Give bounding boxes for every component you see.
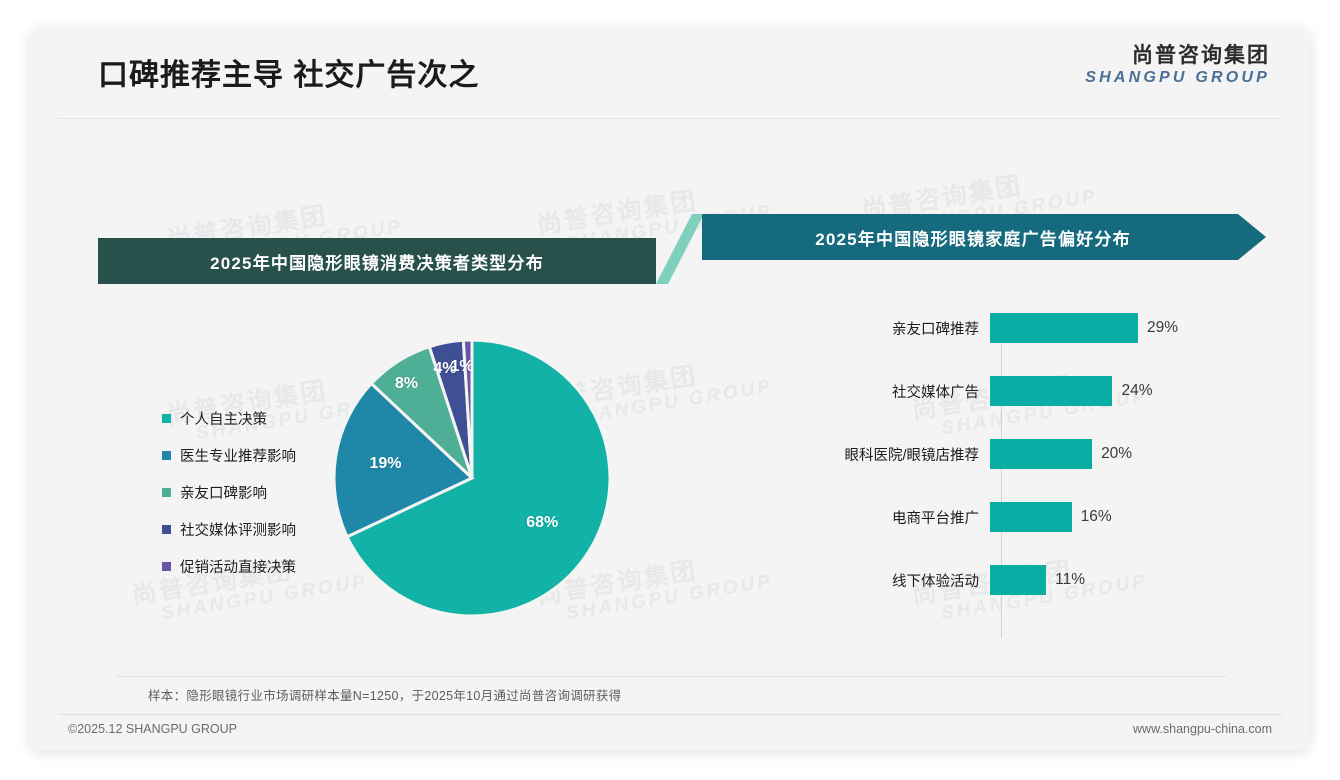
pie-slice-label: 1% <box>451 358 474 376</box>
bar-value-label: 20% <box>1101 445 1132 463</box>
bar-row[interactable]: 电商平台推广16% <box>690 500 1112 534</box>
legend-swatch-icon <box>162 414 171 423</box>
logo-text-cn: 尚普咨询集团 <box>1085 44 1270 68</box>
legend-label: 个人自主决策 <box>180 408 267 429</box>
legend-item[interactable]: 促销活动直接决策 <box>162 556 296 577</box>
legend-item[interactable]: 医生专业推荐影响 <box>162 445 296 466</box>
bar-value-label: 24% <box>1121 382 1152 400</box>
pie-svg <box>332 338 612 618</box>
bar-value-label: 11% <box>1055 571 1085 589</box>
bar-category-label: 亲友口碑推荐 <box>690 318 990 339</box>
bar-row[interactable]: 眼科医院/眼镜店推荐20% <box>690 437 1132 471</box>
bar-fill[interactable] <box>990 502 1072 532</box>
banner-connector-shape <box>656 214 704 284</box>
slide-header: 口碑推荐主导 社交广告次之 尚普咨询集团 SHANGPU GROUP <box>30 28 1310 118</box>
banner-left-pie: 2025年中国隐形眼镜消费决策者类型分布 <box>98 238 656 284</box>
note-divider <box>116 676 1226 677</box>
banner-left-label: 2025年中国隐形眼镜消费决策者类型分布 <box>210 249 544 274</box>
bar-value-label: 29% <box>1147 319 1178 337</box>
bar-fill[interactable] <box>990 565 1046 595</box>
bar-fill[interactable] <box>990 376 1112 406</box>
page-title: 口碑推荐主导 社交广告次之 <box>98 50 479 94</box>
bar-category-label: 线下体验活动 <box>690 570 990 591</box>
pie-slice-label: 8% <box>395 375 418 393</box>
legend-label: 医生专业推荐影响 <box>180 445 296 466</box>
brand-logo: 尚普咨询集团 SHANGPU GROUP <box>1085 44 1270 87</box>
footer-website[interactable]: www.shangpu-china.com <box>1133 722 1272 736</box>
bar-category-label: 电商平台推广 <box>690 507 990 528</box>
legend-swatch-icon <box>162 488 171 497</box>
bar-fill[interactable] <box>990 439 1092 469</box>
legend-label: 促销活动直接决策 <box>180 556 296 577</box>
banner-right-label: 2025年中国隐形眼镜家庭广告偏好分布 <box>815 225 1131 250</box>
section-banners: 2025年中国隐形眼镜消费决策者类型分布 2025年中国隐形眼镜家庭广告偏好分布 <box>30 178 1310 288</box>
legend-swatch-icon <box>162 525 171 534</box>
bar-fill[interactable] <box>990 313 1138 343</box>
legend-label: 社交媒体评测影响 <box>180 519 296 540</box>
bar-row[interactable]: 亲友口碑推荐29% <box>690 311 1178 345</box>
legend-item[interactable]: 亲友口碑影响 <box>162 482 296 503</box>
pie-legend: 个人自主决策 医生专业推荐影响 亲友口碑影响 社交媒体评测影响 促销活动直接决策 <box>162 408 296 593</box>
pie-slice-label: 19% <box>369 455 401 473</box>
logo-text-en: SHANGPU GROUP <box>1085 68 1270 87</box>
bar-category-label: 社交媒体广告 <box>690 381 990 402</box>
legend-label: 亲友口碑影响 <box>180 482 267 503</box>
pie-chart-panel: 个人自主决策 医生专业推荐影响 亲友口碑影响 社交媒体评测影响 促销活动直接决策… <box>70 298 670 668</box>
footer-copyright: ©2025.12 SHANGPU GROUP <box>68 722 237 736</box>
legend-item[interactable]: 个人自主决策 <box>162 408 296 429</box>
banner-right-bar: 2025年中国隐形眼镜家庭广告偏好分布 <box>702 214 1266 260</box>
legend-swatch-icon <box>162 451 171 460</box>
bar-category-label: 眼科医院/眼镜店推荐 <box>690 444 990 465</box>
sample-note: 样本：隐形眼镜行业市场调研样本量N=1250，于2025年10月通过尚普咨询调研… <box>148 685 621 704</box>
pie-chart: 68% 19% 8% 4% 1% <box>332 338 612 618</box>
bar-row[interactable]: 线下体验活动11% <box>690 563 1085 597</box>
slide-card: 尚普咨询集团 SHANGPU GROUP 尚普咨询集团 SHANGPU GROU… <box>30 28 1310 750</box>
header-divider <box>58 118 1282 119</box>
bar-value-label: 16% <box>1081 508 1112 526</box>
legend-swatch-icon <box>162 562 171 571</box>
bar-row[interactable]: 社交媒体广告24% <box>690 374 1153 408</box>
pie-slice-label: 68% <box>526 514 558 532</box>
legend-item[interactable]: 社交媒体评测影响 <box>162 519 296 540</box>
footer-divider <box>58 714 1282 715</box>
bar-chart-panel: 亲友口碑推荐29%社交媒体广告24%眼科医院/眼镜店推荐20%电商平台推广16%… <box>690 298 1290 668</box>
